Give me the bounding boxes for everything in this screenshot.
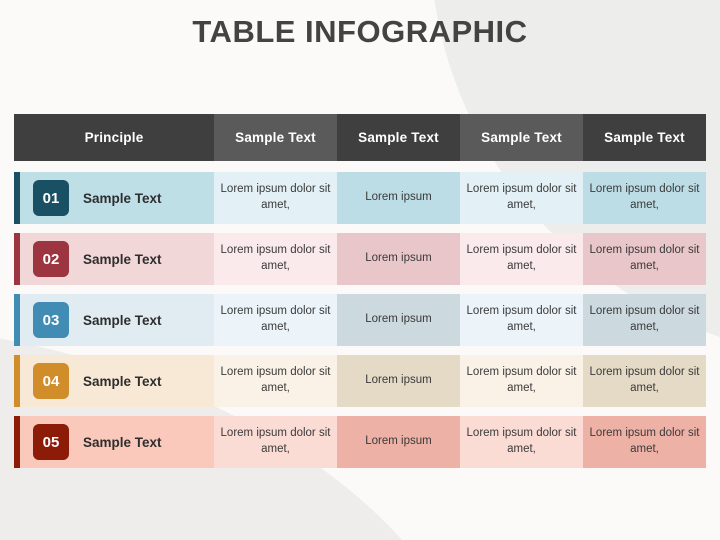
principle-cell: 03Sample Text bbox=[20, 294, 214, 346]
principle-cell: 05Sample Text bbox=[20, 416, 214, 468]
data-cell: Lorem ipsum dolor sit amet, bbox=[460, 172, 583, 224]
table-row[interactable]: 01Sample TextLorem ipsum dolor sit amet,… bbox=[14, 172, 706, 224]
page-title: TABLE INFOGRAPHIC bbox=[0, 14, 720, 50]
principle-label: Sample Text bbox=[83, 374, 162, 389]
infographic-table: PrincipleSample TextSample TextSample Te… bbox=[14, 114, 706, 477]
data-cell: Lorem ipsum dolor sit amet, bbox=[460, 355, 583, 407]
header-cell-2: Sample Text bbox=[337, 114, 460, 161]
data-cell: Lorem ipsum dolor sit amet, bbox=[460, 416, 583, 468]
table-row[interactable]: 05Sample TextLorem ipsum dolor sit amet,… bbox=[14, 416, 706, 468]
data-cell: Lorem ipsum dolor sit amet, bbox=[583, 294, 706, 346]
row-number-badge: 02 bbox=[33, 241, 69, 277]
header-cell-1: Sample Text bbox=[214, 114, 337, 161]
data-cell: Lorem ipsum dolor sit amet, bbox=[214, 294, 337, 346]
data-cell: Lorem ipsum bbox=[337, 416, 460, 468]
principle-cell: 01Sample Text bbox=[20, 172, 214, 224]
data-cell: Lorem ipsum dolor sit amet, bbox=[214, 416, 337, 468]
table-body: 01Sample TextLorem ipsum dolor sit amet,… bbox=[14, 172, 706, 468]
principle-cell: 04Sample Text bbox=[20, 355, 214, 407]
data-cell: Lorem ipsum bbox=[337, 233, 460, 285]
row-number-badge: 01 bbox=[33, 180, 69, 216]
row-number-badge: 03 bbox=[33, 302, 69, 338]
header-cell-4: Sample Text bbox=[583, 114, 706, 161]
row-number-badge: 05 bbox=[33, 424, 69, 460]
data-cell: Lorem ipsum dolor sit amet, bbox=[583, 233, 706, 285]
principle-label: Sample Text bbox=[83, 435, 162, 450]
header-cell-3: Sample Text bbox=[460, 114, 583, 161]
table-row[interactable]: 02Sample TextLorem ipsum dolor sit amet,… bbox=[14, 233, 706, 285]
principle-label: Sample Text bbox=[83, 252, 162, 267]
data-cell: Lorem ipsum dolor sit amet, bbox=[583, 355, 706, 407]
header-cell-principle: Principle bbox=[14, 114, 214, 161]
data-cell: Lorem ipsum dolor sit amet, bbox=[583, 416, 706, 468]
table-row[interactable]: 03Sample TextLorem ipsum dolor sit amet,… bbox=[14, 294, 706, 346]
data-cell: Lorem ipsum dolor sit amet, bbox=[214, 233, 337, 285]
principle-cell: 02Sample Text bbox=[20, 233, 214, 285]
data-cell: Lorem ipsum dolor sit amet, bbox=[460, 233, 583, 285]
data-cell: Lorem ipsum bbox=[337, 355, 460, 407]
data-cell: Lorem ipsum bbox=[337, 172, 460, 224]
data-cell: Lorem ipsum dolor sit amet, bbox=[214, 172, 337, 224]
data-cell: Lorem ipsum bbox=[337, 294, 460, 346]
data-cell: Lorem ipsum dolor sit amet, bbox=[460, 294, 583, 346]
principle-label: Sample Text bbox=[83, 313, 162, 328]
data-cell: Lorem ipsum dolor sit amet, bbox=[583, 172, 706, 224]
table-row[interactable]: 04Sample TextLorem ipsum dolor sit amet,… bbox=[14, 355, 706, 407]
row-number-badge: 04 bbox=[33, 363, 69, 399]
data-cell: Lorem ipsum dolor sit amet, bbox=[214, 355, 337, 407]
table-header-row: PrincipleSample TextSample TextSample Te… bbox=[14, 114, 706, 161]
principle-label: Sample Text bbox=[83, 191, 162, 206]
